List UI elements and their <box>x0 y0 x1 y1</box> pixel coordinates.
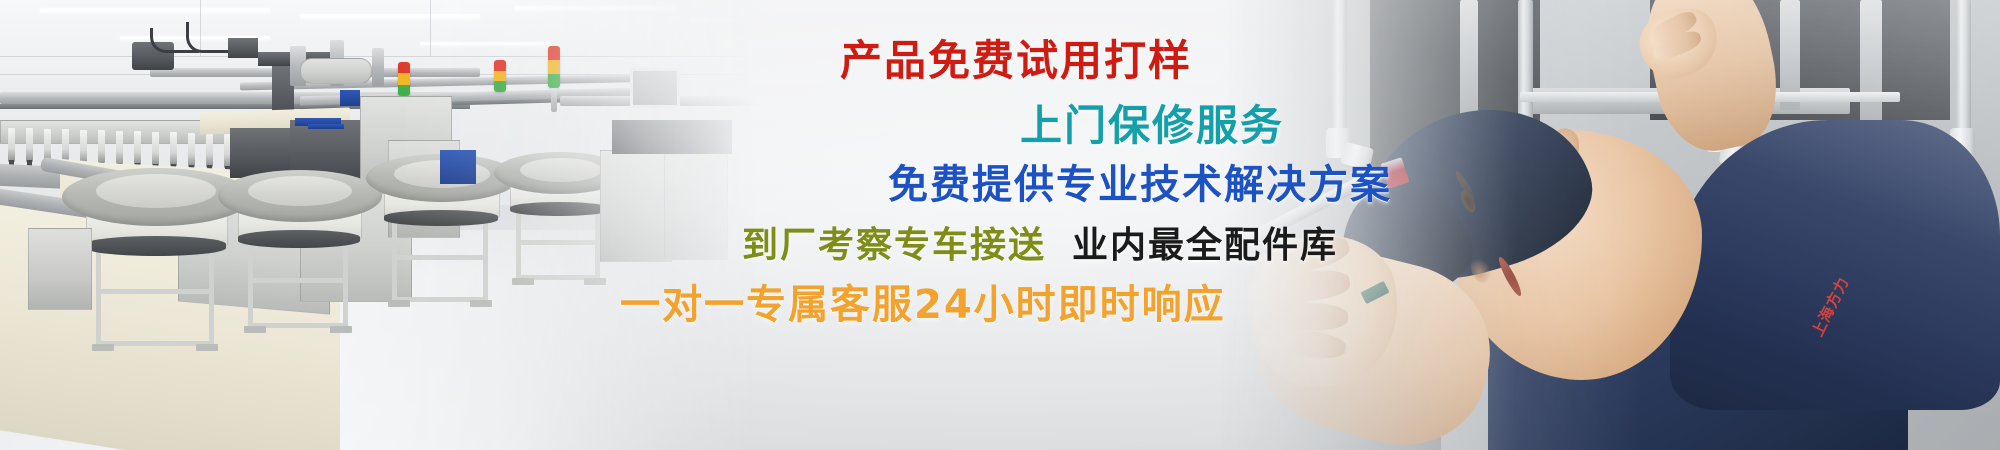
slogan-largest-parts-inventory: 业内最全配件库 <box>1072 228 1338 264</box>
promo-banner: 上海方力 产品免费试用打样 上门保修服务 免费提供专业技术解决方案 到厂考察专车… <box>0 0 2000 450</box>
slogan-factory-visit-shuttle: 到厂考察专车接送 <box>742 228 1046 264</box>
slogan-free-technical-solution: 免费提供专业技术解决方案 <box>888 165 1392 205</box>
slogan-dedicated-support-24h: 一对一专属客服24小时即时响应 <box>620 285 1226 325</box>
slogan-free-trial: 产品免费试用打样 <box>840 40 1192 82</box>
slogan-onsite-warranty: 上门保修服务 <box>1020 105 1284 147</box>
slogan-layer: 产品免费试用打样 上门保修服务 免费提供专业技术解决方案 到厂考察专车接送 业内… <box>0 0 2000 450</box>
